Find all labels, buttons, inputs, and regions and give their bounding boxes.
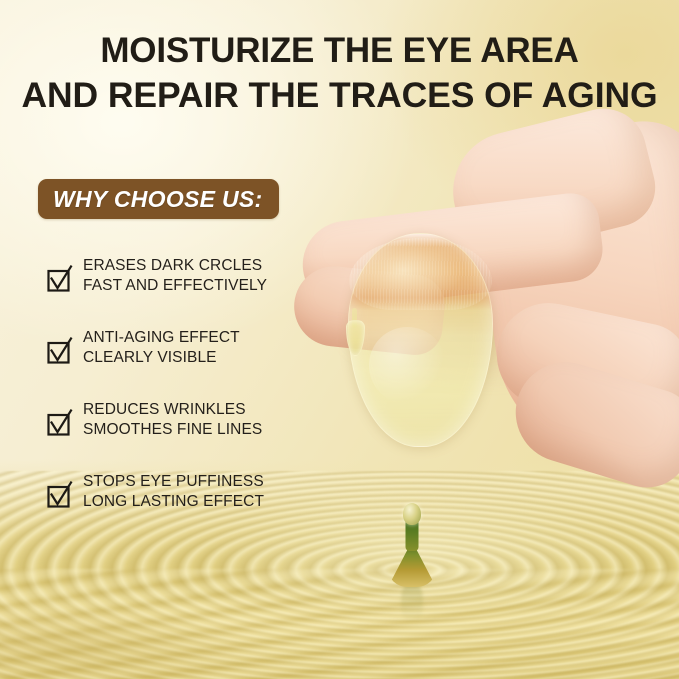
patch-gloss-highlight xyxy=(369,327,446,403)
benefit-text: REDUCES WRINKLES SMOOTHES FINE LINES xyxy=(83,400,262,439)
benefit-text: ERASES DARK CRCLES FAST AND EFFECTIVELY xyxy=(83,256,267,295)
benefit-line-2: FAST AND EFFECTIVELY xyxy=(83,276,267,296)
list-item: REDUCES WRINKLES SMOOTHES FINE LINES xyxy=(47,400,327,472)
headline-line-1: MOISTURIZE THE EYE AREA xyxy=(0,28,679,73)
benefit-line-1: STOPS EYE PUFFINESS xyxy=(83,472,264,492)
hand-holding-eye-patch xyxy=(300,120,679,520)
benefit-line-2: CLEARLY VISIBLE xyxy=(83,348,240,368)
benefit-text: ANTI-AGING EFFECT CLEARLY VISIBLE xyxy=(83,328,240,367)
product-promo-poster: MOISTURIZE THE EYE AREA AND REPAIR THE T… xyxy=(0,0,679,679)
list-item: ERASES DARK CRCLES FAST AND EFFECTIVELY xyxy=(47,256,327,328)
list-item: STOPS EYE PUFFINESS LONG LASTING EFFECT xyxy=(47,472,327,544)
checkbox-checked-icon xyxy=(47,408,73,436)
headline-line-2: AND REPAIR THE TRACES OF AGING xyxy=(0,73,679,118)
splash-reflection xyxy=(401,583,423,621)
list-item: ANTI-AGING EFFECT CLEARLY VISIBLE xyxy=(47,328,327,400)
why-choose-us-label: WHY CHOOSE US: xyxy=(53,186,263,213)
benefit-text: STOPS EYE PUFFINESS LONG LASTING EFFECT xyxy=(83,472,264,511)
checkbox-checked-icon xyxy=(47,480,73,508)
benefit-line-1: REDUCES WRINKLES xyxy=(83,400,262,420)
why-choose-us-badge: WHY CHOOSE US: xyxy=(38,179,279,219)
benefit-line-1: ANTI-AGING EFFECT xyxy=(83,328,240,348)
page-title: MOISTURIZE THE EYE AREA AND REPAIR THE T… xyxy=(0,28,679,118)
benefits-list: ERASES DARK CRCLES FAST AND EFFECTIVELY … xyxy=(47,256,327,544)
benefit-line-1: ERASES DARK CRCLES xyxy=(83,256,267,276)
checkbox-checked-icon xyxy=(47,336,73,364)
benefit-line-2: SMOOTHES FINE LINES xyxy=(83,420,262,440)
benefit-line-2: LONG LASTING EFFECT xyxy=(83,492,264,512)
checkbox-checked-icon xyxy=(47,264,73,292)
